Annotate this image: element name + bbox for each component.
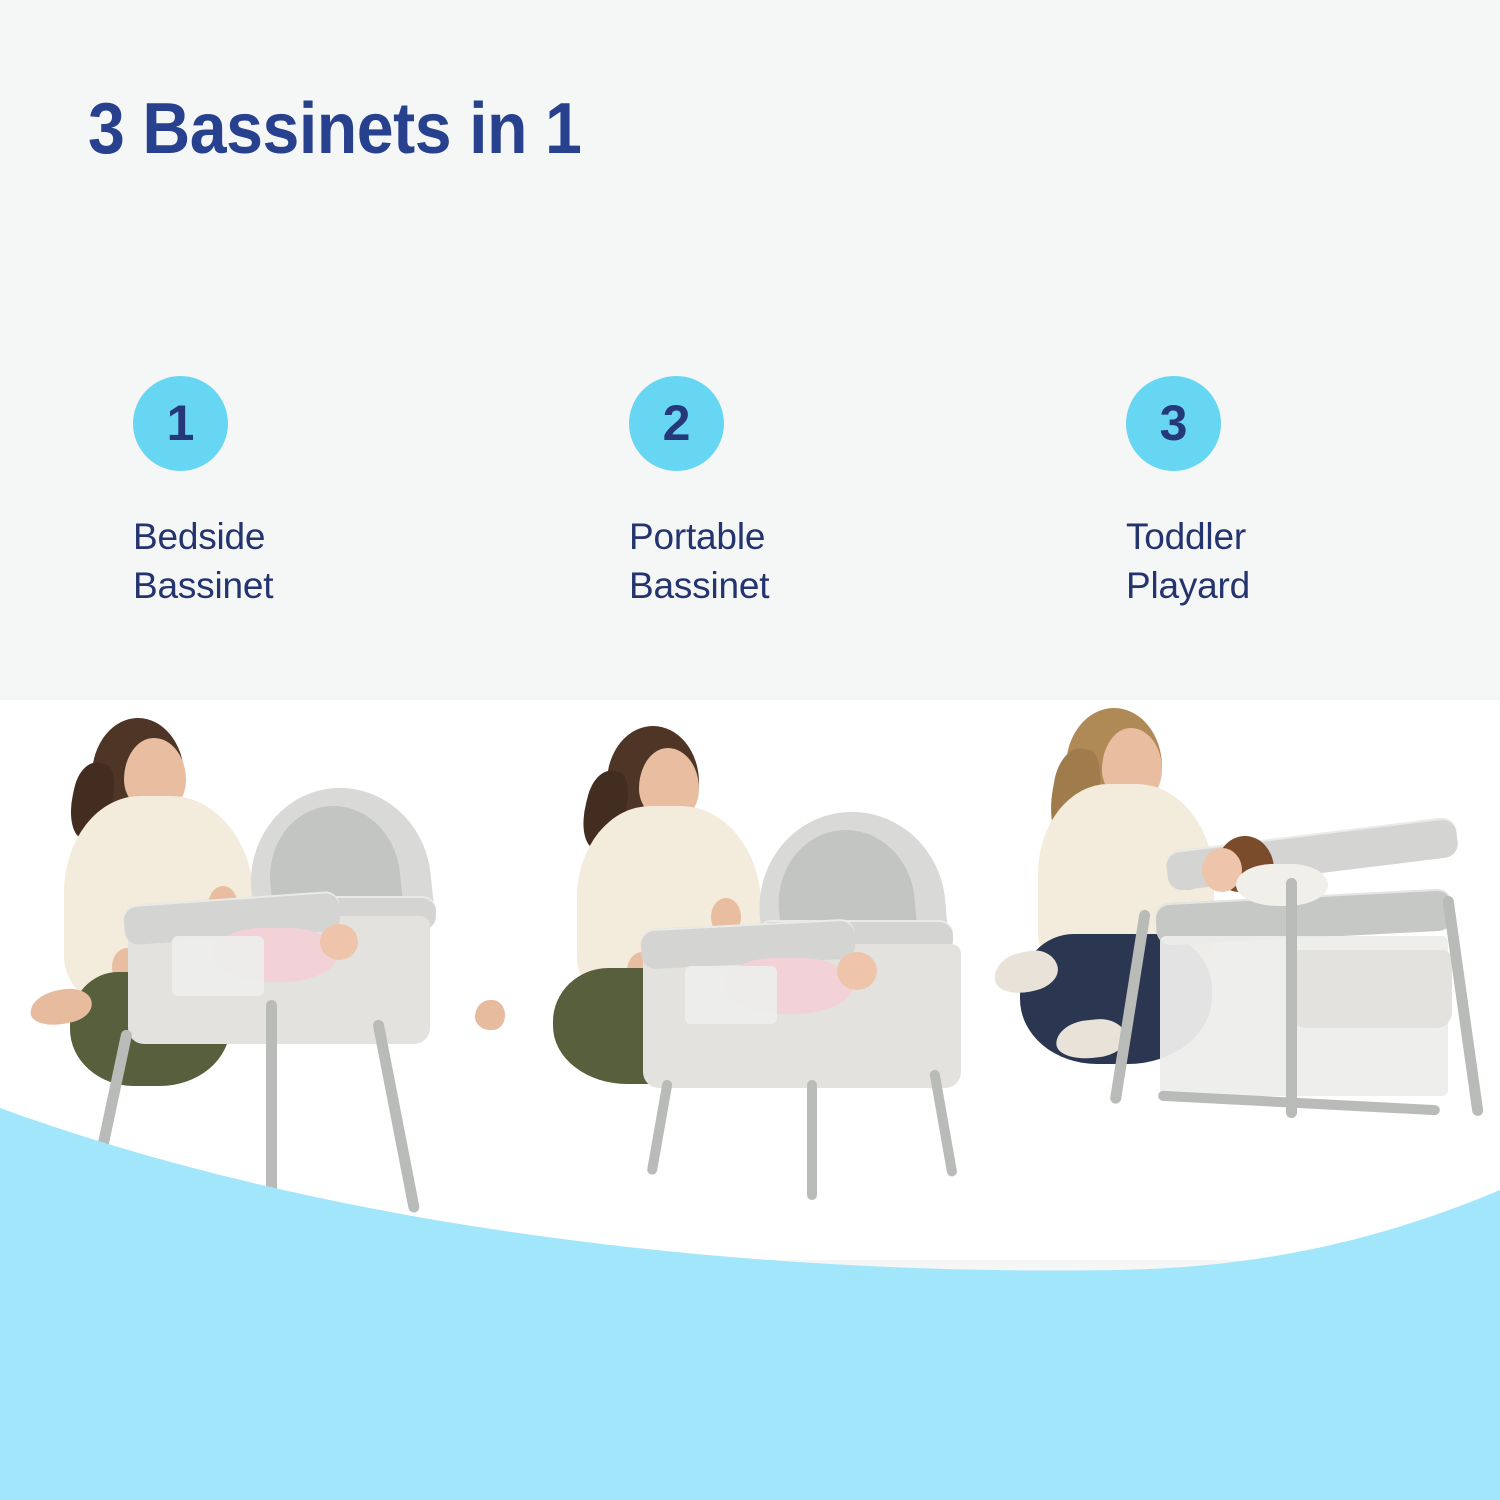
bassinet-leg-left xyxy=(646,1079,673,1175)
step-badge-2: 2 xyxy=(629,376,724,471)
feature-label-portable-bassinet: Portable Bassinet xyxy=(629,512,959,610)
product-photo-portable-bassinet xyxy=(545,700,985,1260)
infographic-canvas: 3 Bassinets in 1 1 Bedside Bassinet 2 Po… xyxy=(0,0,1500,1500)
scene-portable xyxy=(545,700,985,1260)
playard-leg-mid xyxy=(1286,878,1297,1118)
step-number-1: 1 xyxy=(167,398,195,448)
page-title: 3 Bassinets in 1 xyxy=(88,93,581,165)
feature-label-toddler-playard: Toddler Playard xyxy=(1126,512,1456,610)
step-number-2: 2 xyxy=(663,398,691,448)
mother-foot-2-icon xyxy=(475,1000,505,1030)
product-photo-bedside-bassinet xyxy=(20,700,490,1260)
scene-bedside xyxy=(20,700,490,1260)
bassinet-leg-mid xyxy=(266,1000,277,1250)
toddler-body-icon xyxy=(1236,864,1328,906)
baby-head-icon xyxy=(837,952,877,990)
step-badge-1: 1 xyxy=(133,376,228,471)
step-badge-3: 3 xyxy=(1126,376,1221,471)
feature-item-toddler-playard: 3 Toddler Playard xyxy=(1126,376,1456,610)
bassinet-leg-right xyxy=(372,1019,420,1213)
feature-label-bedside-bassinet: Bedside Bassinet xyxy=(133,512,463,610)
bassinet-mesh-panel xyxy=(172,936,264,996)
product-photo-toddler-playard xyxy=(990,700,1480,1260)
feature-item-bedside-bassinet: 1 Bedside Bassinet xyxy=(133,376,463,610)
playard-mattress xyxy=(1290,950,1452,1028)
product-photo-band xyxy=(0,700,1500,1260)
feature-list: 1 Bedside Bassinet 2 Portable Bassinet 3… xyxy=(0,376,1500,606)
step-number-3: 3 xyxy=(1160,398,1188,448)
bassinet-mesh-panel xyxy=(685,966,777,1024)
scene-playard xyxy=(990,700,1480,1260)
bassinet-foot-bar xyxy=(80,1170,264,1238)
baby-head-icon xyxy=(320,924,358,960)
feature-item-portable-bassinet: 2 Portable Bassinet xyxy=(629,376,959,610)
bassinet-leg-mid xyxy=(807,1080,817,1200)
